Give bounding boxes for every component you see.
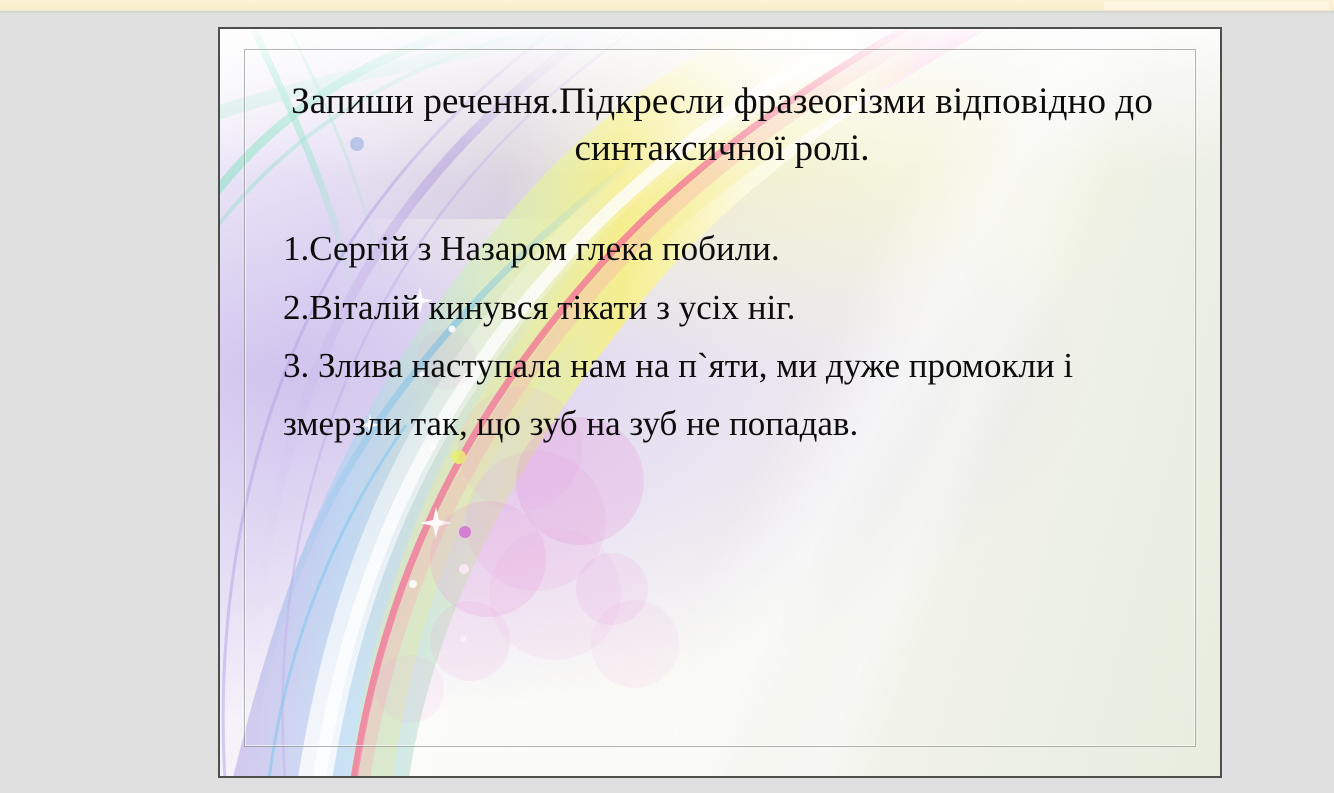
list-item: 1.Сергій з Назаром глека побили. xyxy=(283,219,1163,278)
slide-title: Запиши речення.Підкресли фразеогізми від… xyxy=(272,78,1172,172)
slide-body-list: 1.Сергій з Назаром глека побили. 2.Вітал… xyxy=(283,219,1163,453)
presentation-slide[interactable]: Запиши речення.Підкресли фразеогізми від… xyxy=(218,27,1222,778)
slide-content: Запиши речення.Підкресли фразеогізми від… xyxy=(220,29,1220,776)
browser-top-strip xyxy=(0,0,1334,11)
list-item: 3. Злива наступала нам на п`яти, ми дуже… xyxy=(283,337,1163,453)
list-item: 2.Віталій кинувся тікати з усіх ніг. xyxy=(283,278,1163,337)
browser-tab-stub[interactable] xyxy=(1104,1,1329,10)
top-strip-divider xyxy=(0,11,1334,14)
